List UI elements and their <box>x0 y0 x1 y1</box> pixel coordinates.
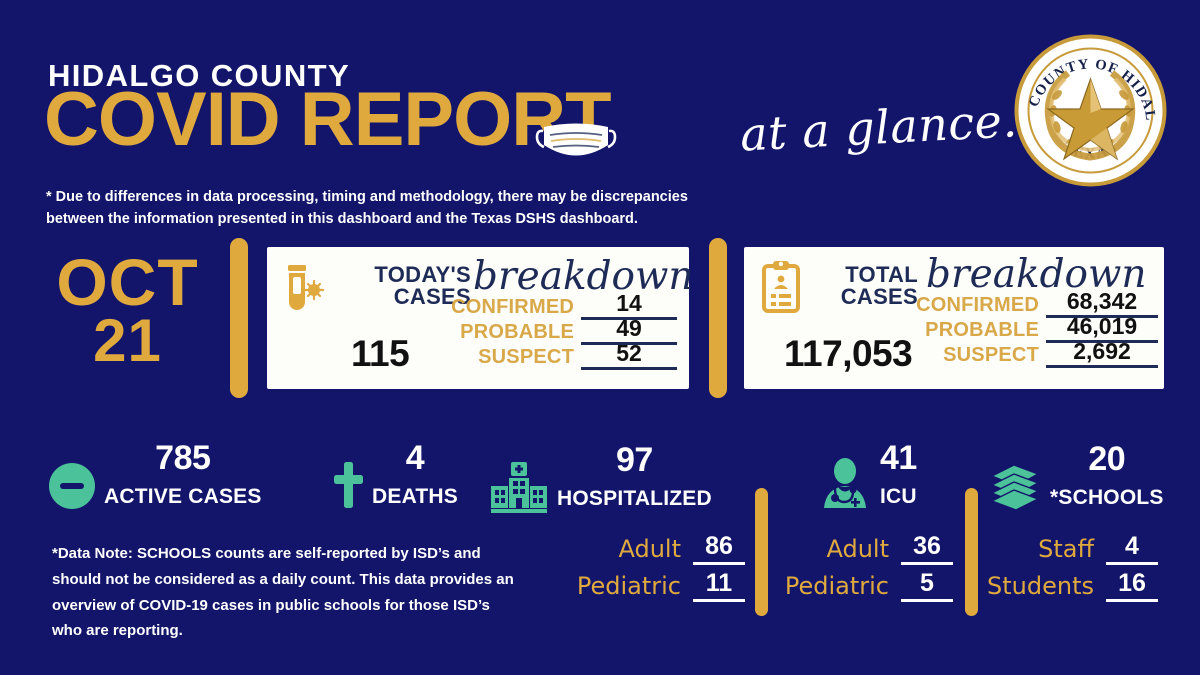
substat-value: 16 <box>1106 571 1158 602</box>
breakdown-row: SUSPECT 52 <box>447 345 677 370</box>
test-tube-virus-icon <box>282 262 324 320</box>
stat-schools-label: *SCHOOLS <box>1050 486 1164 509</box>
data-note: *Data Note: SCHOOLS counts are self-repo… <box>52 541 522 644</box>
stat-icu-value: 41 <box>880 442 917 474</box>
substat-value: 11 <box>693 571 745 602</box>
stat-deaths-value: 4 <box>372 442 458 474</box>
todays-cases-card: TODAY'S CASES breakdown 115 CONFIRMED 14… <box>267 247 689 389</box>
breakdown-label: SUSPECT <box>478 347 574 370</box>
breakdown-label: PROBABLE <box>925 320 1039 343</box>
substat-label: Adult <box>618 537 681 565</box>
stat-hospitalized-value: 97 <box>557 444 712 476</box>
stat-hospitalized-text: 97 HOSPITALIZED <box>557 444 712 509</box>
infographic-root: HIDALGO COUNTY COVID REPORT at a glance.… <box>0 0 1200 675</box>
stat-active-cases: 785 ACTIVE CASES <box>48 440 262 510</box>
clipboard-icon <box>760 259 802 315</box>
stat-schools-value: 20 <box>1050 443 1164 475</box>
substat-label: Pediatric <box>577 574 681 602</box>
date-month: OCT <box>40 252 215 313</box>
tagline: at a glance.. <box>739 92 1034 161</box>
substat-row: Staff 4 <box>988 534 1158 565</box>
stat-icu: 41 ICU <box>818 440 917 510</box>
hospital-icon <box>489 460 549 514</box>
breakdown-label: PROBABLE <box>460 322 574 345</box>
stat-deaths-label: DEATHS <box>372 485 458 508</box>
substat-value: 86 <box>693 534 745 565</box>
stat-icu-label: ICU <box>880 485 917 508</box>
substat-row: Pediatric 5 <box>775 571 953 602</box>
date-day: 21 <box>40 313 215 368</box>
disclaimer-text: * Due to differences in data processing,… <box>46 186 746 231</box>
stat-active-cases-text: 785 ACTIVE CASES <box>104 442 262 507</box>
stat-icu-text: 41 ICU <box>880 442 917 507</box>
breakdown-value: 2,692 <box>1046 340 1158 368</box>
stat-active-cases-label: ACTIVE CASES <box>104 485 262 508</box>
total-breakdown-rows: CONFIRMED 68,342 PROBABLE 46,019 SUSPECT… <box>904 293 1158 368</box>
stat-schools-text: 20 *SCHOOLS <box>1050 443 1164 508</box>
stat-hospitalized: 97 HOSPITALIZED <box>489 440 712 514</box>
hospitalized-substats: Adult 86 Pediatric 11 <box>560 534 745 608</box>
total-cases-title: TOTAL CASES <box>806 264 918 309</box>
breakdown-label: CONFIRMED <box>916 295 1039 318</box>
breakdown-value: 52 <box>581 342 677 370</box>
substat-row: Pediatric 11 <box>560 571 745 602</box>
substat-row: Adult 36 <box>775 534 953 565</box>
breakdown-row: SUSPECT 2,692 <box>904 343 1158 368</box>
divider-bar-icu-schools <box>965 488 978 616</box>
substat-row: Adult 86 <box>560 534 745 565</box>
substat-value: 5 <box>901 571 953 602</box>
todays-cases-total: 115 <box>351 333 409 375</box>
books-stack-icon <box>988 460 1042 512</box>
breakdown-label: SUSPECT <box>943 345 1039 368</box>
total-cases-title-line1: TOTAL <box>845 262 918 287</box>
county-seal: THE COUNTY OF HIDALGO TEXAS <box>1013 33 1168 188</box>
breakdown-label: CONFIRMED <box>451 297 574 320</box>
stat-hospitalized-label: HOSPITALIZED <box>557 487 712 510</box>
report-date: OCT 21 <box>40 252 215 368</box>
doctor-stethoscope-icon <box>818 458 872 510</box>
substat-label: Staff <box>1038 537 1094 565</box>
substat-value: 36 <box>901 534 953 565</box>
substat-row: Students 16 <box>988 571 1158 602</box>
total-cases-card: TOTAL CASES breakdown 117,053 CONFIRMED … <box>744 247 1164 389</box>
substat-value: 4 <box>1106 534 1158 565</box>
schools-substats: Staff 4 Students 16 <box>988 534 1158 608</box>
stat-active-cases-value: 785 <box>104 442 262 474</box>
divider-bar-hosp-icu <box>755 488 768 616</box>
icu-substats: Adult 36 Pediatric 5 <box>775 534 953 608</box>
stat-schools: 20 *SCHOOLS <box>988 440 1164 512</box>
todays-breakdown-rows: CONFIRMED 14 PROBABLE 49 SUSPECT 52 <box>447 295 677 370</box>
substat-label: Pediatric <box>785 574 889 602</box>
page-title: COVID REPORT <box>44 82 611 158</box>
stat-deaths: 4 DEATHS <box>332 440 458 510</box>
todays-cases-title-line1: TODAY'S <box>374 262 471 287</box>
divider-bar-mid <box>709 238 727 398</box>
stat-deaths-text: 4 DEATHS <box>372 442 458 507</box>
minus-circle-icon <box>48 462 96 510</box>
face-mask-icon <box>535 113 617 169</box>
divider-bar-left <box>230 238 248 398</box>
total-cases-total: 117,053 <box>784 333 912 375</box>
substat-label: Students <box>987 574 1094 602</box>
cross-icon <box>332 460 364 510</box>
substat-label: Adult <box>826 537 889 565</box>
